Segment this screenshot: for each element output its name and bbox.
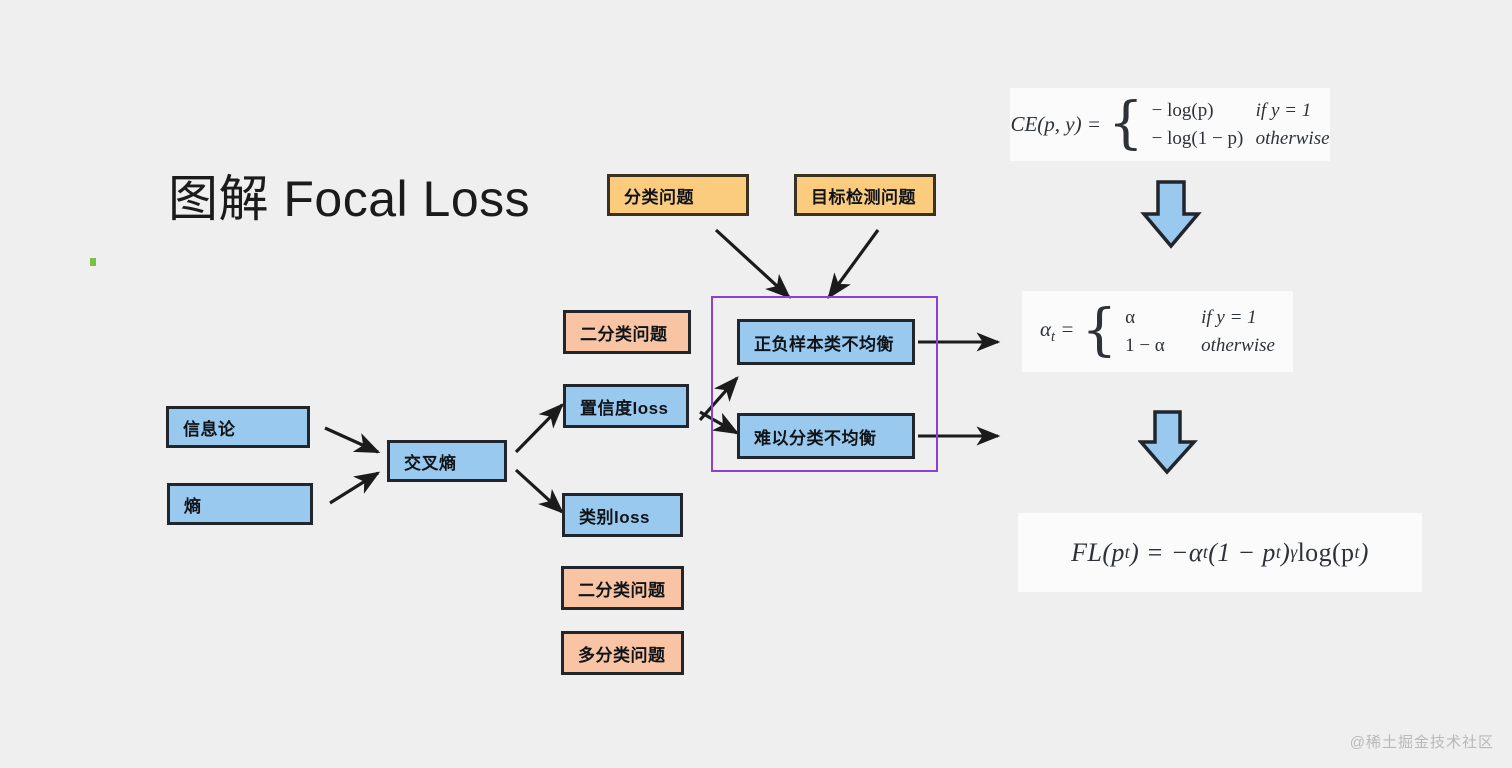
node-label: 多分类问题: [578, 641, 666, 666]
fl-gamma-exponent: γ: [1290, 542, 1297, 563]
node-hard-example-imbalance[interactable]: 难以分类不均衡: [737, 413, 915, 459]
node-multiclass-problem[interactable]: 多分类问题: [561, 631, 684, 675]
node-label: 正负样本类不均衡: [754, 330, 894, 355]
node-binary-classification-bottom[interactable]: 二分类问题: [561, 566, 684, 610]
case-row: − log(p) if y = 1: [1152, 97, 1330, 125]
formula-card-alpha-t: αt = { α if y = 1 1 − α otherwise: [1022, 291, 1293, 372]
node-information-theory[interactable]: 信息论: [166, 406, 310, 448]
case-value: − log(p): [1152, 97, 1256, 125]
case-condition: if y = 1: [1256, 97, 1312, 125]
arrow-info-to-hub: [325, 428, 378, 452]
alpha-symbol: α: [1040, 317, 1051, 341]
node-positive-negative-imbalance[interactable]: 正负样本类不均衡: [737, 319, 915, 365]
formula-lhs: αt =: [1040, 317, 1074, 346]
arrow-detection-to-group: [829, 230, 878, 297]
formula-focal-loss: FL(pt) = −αt(1 − pt)γ log(pt): [1071, 538, 1369, 568]
case-condition: otherwise: [1256, 125, 1330, 153]
formula-lhs: CE(p, y) =: [1010, 112, 1101, 137]
node-classification-problem[interactable]: 分类问题: [607, 174, 749, 216]
arrow-entropy-to-hub: [330, 473, 378, 503]
formula-cross-entropy: CE(p, y) = { − log(p) if y = 1 − log(1 −…: [1010, 97, 1329, 152]
arrow-hub-to-confidence: [516, 405, 562, 452]
case-row: 1 − α otherwise: [1125, 332, 1275, 360]
case-row: α if y = 1: [1125, 304, 1275, 332]
case-row: − log(1 − p) otherwise: [1152, 125, 1330, 153]
down-arrow-icon-1: [1140, 180, 1202, 250]
node-object-detection-problem[interactable]: 目标检测问题: [794, 174, 936, 216]
case-value: 1 − α: [1125, 332, 1201, 360]
fl-log: log(p: [1298, 538, 1355, 568]
node-binary-classification-top[interactable]: 二分类问题: [563, 310, 691, 354]
node-label: 二分类问题: [578, 576, 666, 601]
node-label: 类别loss: [579, 503, 650, 528]
page-title: 图解 Focal Loss: [168, 172, 530, 227]
equals-sign: =: [1060, 317, 1074, 341]
formula-alpha-t: αt = { α if y = 1 1 − α otherwise: [1040, 304, 1275, 359]
case-condition: if y = 1: [1201, 304, 1257, 332]
fl-tail: (1 − p: [1208, 538, 1276, 568]
node-label: 分类问题: [624, 183, 694, 208]
formula-cases: − log(p) if y = 1 − log(1 − p) otherwise: [1152, 97, 1330, 152]
node-label: 目标检测问题: [811, 183, 916, 208]
fl-mid: ) = −α: [1130, 538, 1203, 568]
node-label: 信息论: [183, 415, 236, 440]
node-label: 难以分类不均衡: [754, 424, 877, 449]
watermark: @稀土掘金技术社区: [1350, 731, 1494, 752]
arrow-hub-to-category: [516, 470, 562, 512]
fl-power-close: ): [1281, 538, 1290, 568]
node-label: 交叉熵: [404, 449, 457, 474]
fl-end: ): [1360, 538, 1369, 568]
case-condition: otherwise: [1201, 332, 1275, 360]
node-confidence-loss[interactable]: 置信度loss: [563, 384, 689, 428]
fl-lhs: FL(p: [1071, 538, 1125, 568]
node-label: 熵: [184, 492, 202, 517]
green-dot-marker: [90, 258, 96, 266]
arrow-classification-to-group: [716, 230, 789, 297]
case-value: α: [1125, 304, 1201, 332]
node-category-loss[interactable]: 类别loss: [562, 493, 683, 537]
node-entropy[interactable]: 熵: [167, 483, 313, 525]
down-arrow-icon-2: [1138, 410, 1198, 476]
node-label: 置信度loss: [580, 394, 669, 419]
formula-card-cross-entropy: CE(p, y) = { − log(p) if y = 1 − log(1 −…: [1010, 88, 1330, 161]
alpha-subscript: t: [1051, 329, 1055, 345]
slide-canvas: 图解 Focal Loss 分类问题 目标检测问题: [0, 0, 1512, 768]
formula-cases: α if y = 1 1 − α otherwise: [1125, 304, 1275, 359]
case-value: − log(1 − p): [1152, 125, 1256, 153]
node-label: 二分类问题: [580, 320, 668, 345]
formula-card-focal-loss: FL(pt) = −αt(1 − pt)γ log(pt): [1018, 513, 1422, 592]
node-cross-entropy[interactable]: 交叉熵: [387, 440, 507, 482]
